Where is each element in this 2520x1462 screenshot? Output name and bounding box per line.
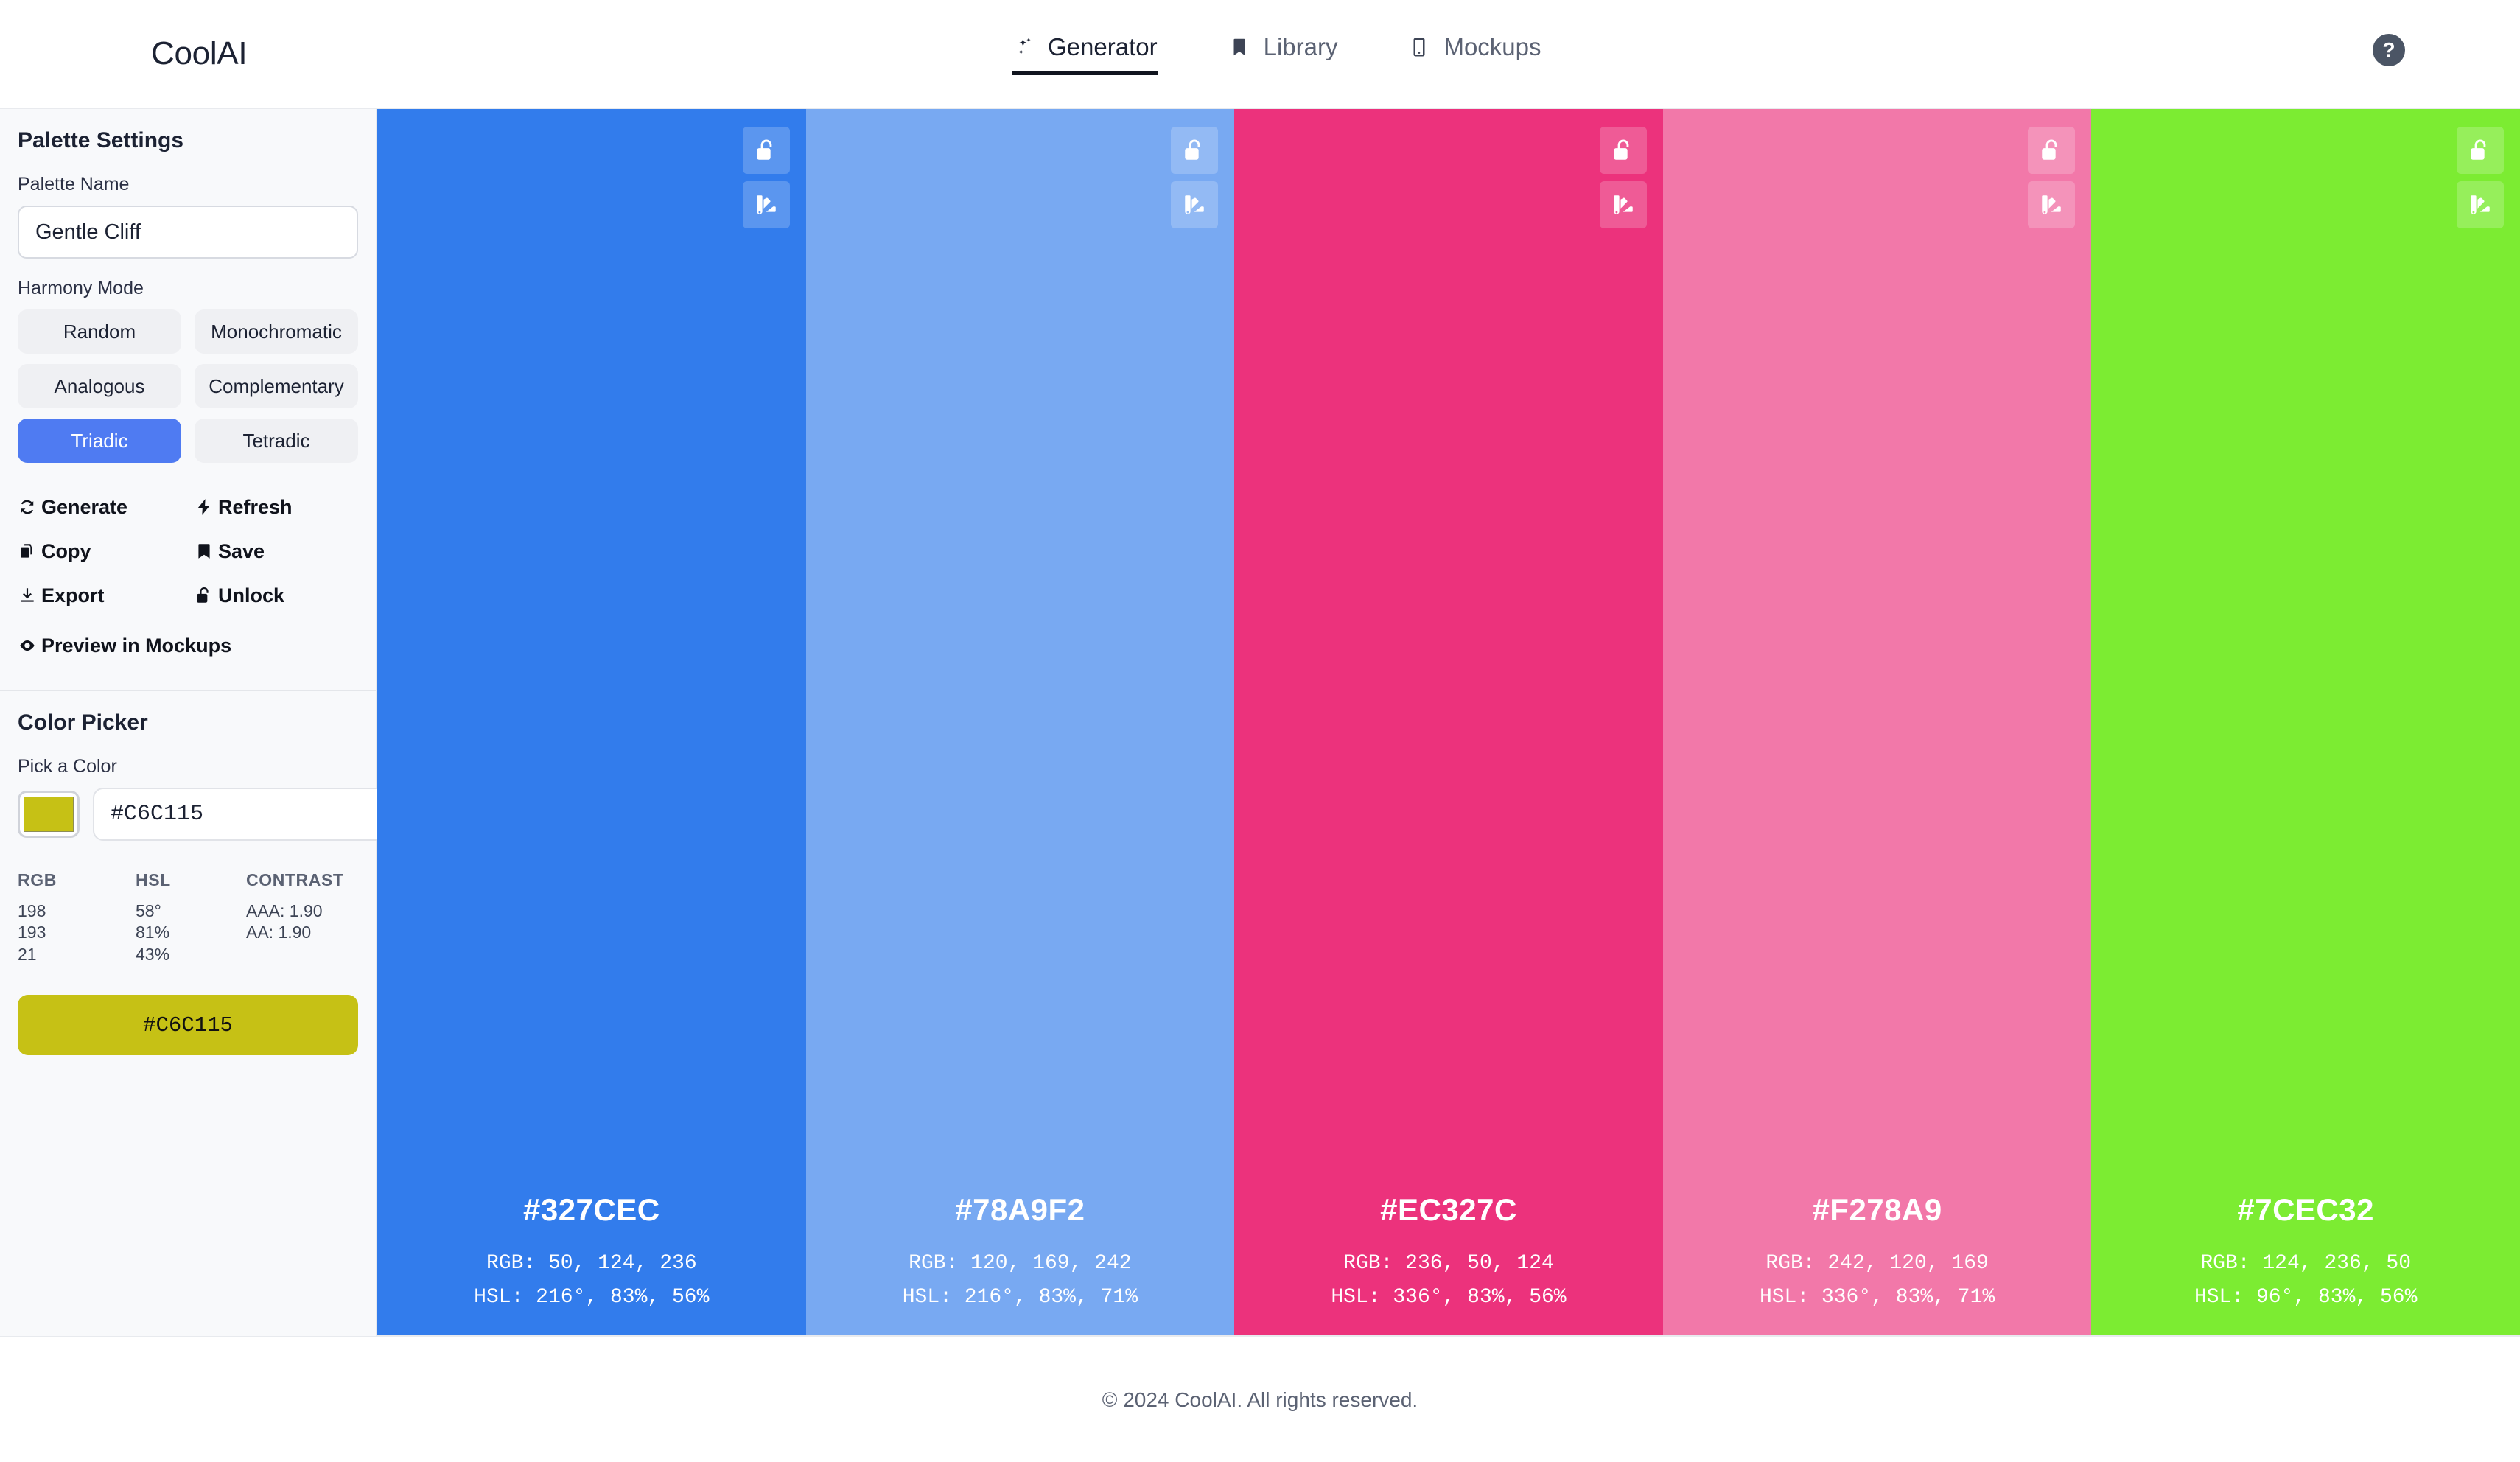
harmony-mode-analogous[interactable]: Analogous xyxy=(18,364,181,408)
unlock-button[interactable]: Unlock xyxy=(195,573,358,618)
unlock-icon[interactable] xyxy=(2028,127,2075,174)
mobile-icon xyxy=(1408,36,1430,58)
save-label: Save xyxy=(218,540,265,563)
palette-icon[interactable] xyxy=(1171,181,1218,228)
tab-library[interactable]: Library xyxy=(1228,33,1338,75)
palette-name-label: Palette Name xyxy=(18,174,358,195)
contrast-aa: AA: 1.90 xyxy=(246,922,344,943)
copy-button[interactable]: Copy xyxy=(18,529,181,573)
app-root: CoolAI Generator Library Mockups xyxy=(0,0,2520,1462)
bolt-icon xyxy=(195,497,214,517)
rgb-g: 193 xyxy=(18,922,136,943)
rgb-column: RGB 198 193 21 xyxy=(18,870,136,965)
copyright-text: © 2024 CoolAI. All rights reserved. xyxy=(1102,1388,1418,1412)
tab-library-label: Library xyxy=(1264,33,1338,61)
color-picker-title: Color Picker xyxy=(18,710,358,735)
brand-logo: CoolAI xyxy=(151,35,247,72)
hsl-header: HSL xyxy=(136,870,246,890)
unlock-icon[interactable] xyxy=(2457,127,2504,174)
palette-column[interactable]: #7CEC32 RGB: 124, 236, 50 HSL: 96°, 83%,… xyxy=(2091,109,2520,1335)
pick-a-color-label: Pick a Color xyxy=(18,756,358,777)
app-footer: © 2024 CoolAI. All rights reserved. xyxy=(0,1337,2520,1462)
sparkles-icon xyxy=(1012,36,1035,58)
generate-label: Generate xyxy=(41,496,127,519)
rgb-b: 21 xyxy=(18,944,136,965)
palette-icon[interactable] xyxy=(2028,181,2075,228)
palette-column[interactable]: #EC327C RGB: 236, 50, 124 HSL: 336°, 83%… xyxy=(1234,109,1663,1335)
rgb-header: RGB xyxy=(18,870,136,890)
generate-button[interactable]: Generate xyxy=(18,485,181,529)
tab-generator-label: Generator xyxy=(1048,33,1158,61)
column-hsl: HSL: 336°, 83%, 71% xyxy=(1760,1281,1995,1315)
unlock-icon[interactable] xyxy=(1171,127,1218,174)
tab-mockups-label: Mockups xyxy=(1443,33,1541,61)
hsl-l: 43% xyxy=(136,944,246,965)
contrast-header: CONTRAST xyxy=(246,870,344,890)
unlock-label: Unlock xyxy=(218,584,284,607)
copy-icon xyxy=(18,542,37,561)
export-button[interactable]: Export xyxy=(18,573,181,618)
column-tools xyxy=(2028,127,2075,228)
column-rgb: RGB: 124, 236, 50 xyxy=(2200,1247,2411,1281)
palette-icon[interactable] xyxy=(743,181,790,228)
column-hex: #F278A9 xyxy=(1812,1192,1942,1228)
column-rgb: RGB: 50, 124, 236 xyxy=(486,1247,697,1281)
harmony-mode-monochromatic[interactable]: Monochromatic xyxy=(195,309,358,354)
unlock-icon[interactable] xyxy=(743,127,790,174)
color-picker-panel: Color Picker Pick a Color RGB 198 193 21 xyxy=(0,690,376,1077)
palette-column[interactable]: #78A9F2 RGB: 120, 169, 242 HSL: 216°, 83… xyxy=(806,109,1235,1335)
preview-in-mockups-button[interactable]: Preview in Mockups xyxy=(18,623,358,668)
rgb-r: 198 xyxy=(18,900,136,922)
copy-label: Copy xyxy=(41,540,91,563)
palette-settings-title: Palette Settings xyxy=(18,128,358,153)
harmony-mode-group: Random Monochromatic Analogous Complemen… xyxy=(18,309,358,463)
column-hsl: HSL: 216°, 83%, 71% xyxy=(903,1281,1138,1315)
refresh-label: Refresh xyxy=(218,496,293,519)
palette-column[interactable]: #F278A9 RGB: 242, 120, 169 HSL: 336°, 83… xyxy=(1663,109,2092,1335)
column-hex: #78A9F2 xyxy=(955,1192,1085,1228)
palette-icon[interactable] xyxy=(1600,181,1647,228)
harmony-mode-complementary[interactable]: Complementary xyxy=(195,364,358,408)
column-hsl: HSL: 96°, 83%, 56% xyxy=(2194,1281,2417,1315)
main-nav: Generator Library Mockups xyxy=(1012,33,1541,75)
column-tools xyxy=(743,127,790,228)
contrast-aaa: AAA: 1.90 xyxy=(246,900,344,922)
app-header: CoolAI Generator Library Mockups xyxy=(0,0,2520,109)
column-hsl: HSL: 216°, 83%, 56% xyxy=(474,1281,709,1315)
cycle-icon xyxy=(18,497,37,517)
column-rgb: RGB: 120, 169, 242 xyxy=(909,1247,1131,1281)
contrast-column: CONTRAST AAA: 1.90 AA: 1.90 xyxy=(246,870,344,965)
color-swatch-fill xyxy=(24,797,74,832)
harmony-mode-label: Harmony Mode xyxy=(18,278,358,299)
palette-name-input[interactable] xyxy=(18,206,358,259)
column-tools xyxy=(2457,127,2504,228)
column-tools xyxy=(1171,127,1218,228)
palette-column[interactable]: #327CEC RGB: 50, 124, 236 HSL: 216°, 83%… xyxy=(377,109,806,1335)
unlock-icon xyxy=(195,586,214,605)
harmony-mode-triadic[interactable]: Triadic xyxy=(18,419,181,463)
palette-icon[interactable] xyxy=(2457,181,2504,228)
download-icon xyxy=(18,586,37,605)
hsl-s: 81% xyxy=(136,922,246,943)
unlock-icon[interactable] xyxy=(1600,127,1647,174)
color-swatch-button[interactable] xyxy=(18,791,80,838)
tab-generator[interactable]: Generator xyxy=(1012,33,1158,75)
palette-swatches: #327CEC RGB: 50, 124, 236 HSL: 216°, 83%… xyxy=(377,109,2520,1337)
palette-settings-panel: Palette Settings Palette Name Harmony Mo… xyxy=(0,109,376,690)
column-hsl: HSL: 336°, 83%, 56% xyxy=(1331,1281,1566,1315)
hsl-h: 58° xyxy=(136,900,246,922)
save-button[interactable]: Save xyxy=(195,529,358,573)
color-picker-row xyxy=(18,788,358,841)
harmony-mode-random[interactable]: Random xyxy=(18,309,181,354)
bookmark-icon xyxy=(195,542,214,561)
hsl-column: HSL 58° 81% 43% xyxy=(136,870,246,965)
hex-input[interactable] xyxy=(93,788,408,841)
picked-color-preview[interactable]: #C6C115 xyxy=(18,995,358,1055)
sidebar: Palette Settings Palette Name Harmony Mo… xyxy=(0,109,377,1337)
column-hex: #327CEC xyxy=(523,1192,660,1228)
harmony-mode-tetradic[interactable]: Tetradic xyxy=(195,419,358,463)
help-icon[interactable]: ? xyxy=(2373,34,2405,66)
palette-actions: Generate Refresh Copy xyxy=(18,485,358,668)
column-rgb: RGB: 236, 50, 124 xyxy=(1343,1247,1554,1281)
tab-mockups[interactable]: Mockups xyxy=(1408,33,1541,75)
export-label: Export xyxy=(41,584,105,607)
bookmark-icon xyxy=(1228,36,1250,58)
column-tools xyxy=(1600,127,1647,228)
color-stats: RGB 198 193 21 HSL 58° 81% 43% CONTRAST … xyxy=(18,870,358,965)
column-rgb: RGB: 242, 120, 169 xyxy=(1765,1247,1988,1281)
preview-in-mockups-label: Preview in Mockups xyxy=(41,634,231,657)
column-hex: #EC327C xyxy=(1380,1192,1517,1228)
column-hex: #7CEC32 xyxy=(2237,1192,2374,1228)
body-row: Palette Settings Palette Name Harmony Mo… xyxy=(0,109,2520,1337)
refresh-button[interactable]: Refresh xyxy=(195,485,358,529)
eye-icon xyxy=(18,636,37,655)
